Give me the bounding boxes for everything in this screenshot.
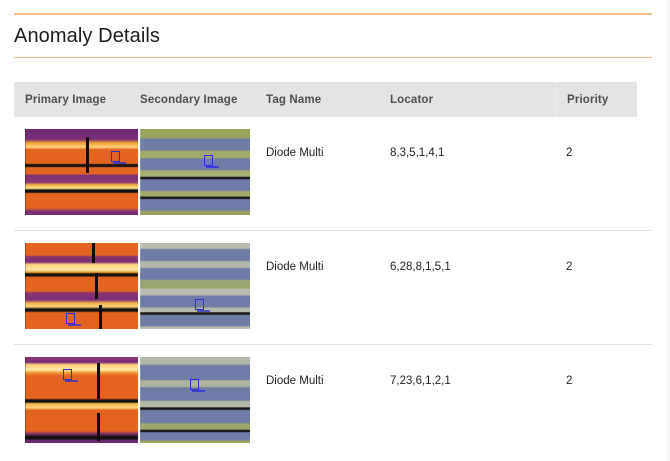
cell-primary-image (14, 345, 140, 443)
table-row[interactable]: Diode Multi 8,3,5,1,4,1 2 (14, 117, 652, 231)
table-row[interactable]: Diode Multi 6,28,8,1,5,1 2 (14, 231, 652, 345)
anomaly-marker (66, 313, 75, 324)
cell-primary-image (14, 231, 140, 329)
panel-gap-bar (97, 413, 100, 441)
cell-priority: 2 (556, 117, 637, 159)
cell-secondary-image (140, 117, 266, 215)
anomaly-marker (190, 379, 199, 390)
title-rule-bottom (14, 57, 652, 58)
cell-priority: 2 (556, 345, 637, 387)
title-rule-top (14, 13, 652, 15)
page-right-edge (666, 0, 670, 461)
primary-thermal-thumbnail[interactable] (25, 129, 138, 215)
rgb-image-canvas (140, 129, 250, 215)
cell-secondary-image (140, 345, 266, 443)
panel-gap-bar (99, 305, 102, 329)
secondary-rgb-thumbnail[interactable] (140, 357, 250, 443)
anomaly-marker-tail (68, 324, 81, 326)
cell-locator: 7,23,6,1,2,1 (390, 345, 556, 387)
thermal-image-canvas (25, 243, 138, 329)
anomaly-marker-tail (197, 310, 210, 312)
primary-thermal-thumbnail[interactable] (25, 357, 138, 443)
anomaly-details-table: Primary Image Secondary Image Tag Name L… (14, 82, 652, 459)
panel-gap-bar (86, 137, 89, 173)
anomaly-marker (195, 299, 204, 310)
table-row[interactable]: Diode Multi 7,23,6,1,2,1 2 (14, 345, 652, 459)
cell-locator: 6,28,8,1,5,1 (390, 231, 556, 273)
cell-primary-image (14, 117, 140, 215)
thermal-image-canvas (25, 129, 138, 215)
page-title: Anomaly Details (14, 23, 160, 49)
cell-tag-name: Diode Multi (266, 117, 390, 159)
rgb-image-canvas (140, 357, 250, 443)
panel-gap-bar (95, 273, 98, 299)
cell-secondary-image (140, 231, 266, 329)
column-header-primary-image[interactable]: Primary Image (14, 94, 140, 106)
table-header-row: Primary Image Secondary Image Tag Name L… (14, 82, 637, 117)
secondary-rgb-thumbnail[interactable] (140, 243, 250, 329)
panel-gap-bar (92, 243, 95, 263)
column-header-tag-name[interactable]: Tag Name (266, 94, 390, 106)
column-header-locator[interactable]: Locator (390, 94, 556, 106)
cell-tag-name: Diode Multi (266, 231, 390, 273)
anomaly-marker-tail (192, 390, 205, 392)
anomaly-marker-tail (206, 166, 219, 168)
anomaly-marker (204, 155, 213, 166)
table-body: Diode Multi 8,3,5,1,4,1 2 (14, 117, 652, 459)
anomaly-marker-tail (113, 162, 126, 164)
anomaly-marker-tail (65, 380, 78, 382)
cell-locator: 8,3,5,1,4,1 (390, 117, 556, 159)
anomaly-details-page: Anomaly Details Primary Image Secondary … (0, 0, 670, 461)
anomaly-marker (63, 369, 72, 380)
anomaly-marker (111, 151, 120, 162)
cell-tag-name: Diode Multi (266, 345, 390, 387)
column-header-priority[interactable]: Priority (556, 82, 637, 117)
rgb-image-canvas (140, 243, 250, 329)
panel-gap-bar (97, 363, 100, 399)
thermal-image-canvas (25, 357, 138, 443)
secondary-rgb-thumbnail[interactable] (140, 129, 250, 215)
cell-priority: 2 (556, 231, 637, 273)
column-header-secondary-image[interactable]: Secondary Image (140, 94, 266, 106)
primary-thermal-thumbnail[interactable] (25, 243, 138, 329)
